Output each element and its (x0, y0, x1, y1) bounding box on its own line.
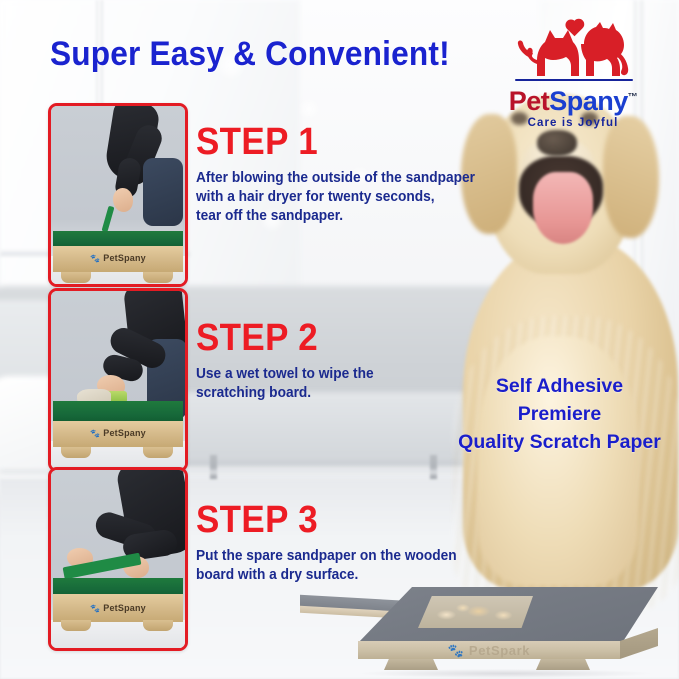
product-tagline: Self Adhesive Premiere Quality Scratch P… (452, 372, 667, 456)
board-brand-text: PetSpany (103, 253, 146, 263)
step-block-1: STEP 1 After blowing the outside of the … (196, 122, 493, 226)
step-block-2: STEP 2 Use a wet towel to wipe the scrat… (196, 318, 385, 403)
dog-ear-right (603, 116, 659, 238)
paw-icon: 🐾 (90, 254, 100, 263)
product-shadow (360, 669, 650, 678)
board-brand-text: PetSpany (103, 603, 146, 613)
board-brand-label: 🐾PetSpany (51, 428, 185, 438)
step-photo-3: 🐾PetSpany (48, 467, 188, 651)
bokeh-light (300, 100, 318, 118)
trademark-symbol: ™ (628, 92, 638, 103)
step-title-1: STEP 1 (196, 122, 469, 162)
board-foot (143, 447, 173, 458)
step-photo-1: 🐾PetSpany (48, 103, 188, 287)
person-hand (113, 188, 133, 212)
product-brand-text: PetSpark (469, 643, 530, 658)
brand-tagline: Care is Joyful (498, 117, 648, 129)
board-foot (143, 620, 173, 631)
board-foot (61, 620, 91, 631)
paw-icon: 🐾 (448, 643, 465, 658)
logo-divider (515, 79, 633, 81)
step-body-1: After blowing the outside of the sandpap… (196, 169, 475, 226)
paw-icon: 🐾 (90, 429, 100, 438)
brand-name-pet: Pet (509, 86, 550, 116)
person-jeans (143, 158, 183, 226)
dog-tongue (533, 172, 593, 244)
cat-and-dog-heart-logo-icon (498, 22, 648, 84)
brand-name: PetSpany™ (498, 84, 648, 115)
board-foot (61, 272, 91, 283)
step-block-3: STEP 3 Put the spare sandpaper on the wo… (196, 500, 473, 585)
treats (428, 601, 520, 624)
board-brand-label: 🐾PetSpany (51, 603, 185, 613)
step-body-2: Use a wet towel to wipe the scratching b… (196, 365, 374, 403)
green-board-surface (53, 401, 183, 423)
step-title-3: STEP 3 (196, 500, 451, 540)
product-brand-label: 🐾 PetSpark (358, 643, 620, 659)
step-title-2: STEP 2 (196, 318, 370, 358)
board-brand-label: 🐾PetSpany (51, 253, 185, 263)
step-body-3: Put the spare sandpaper on the wooden bo… (196, 547, 457, 585)
product-hero-image: 🐾 PetSpark (300, 585, 679, 679)
infographic-poster: Super Easy & Convenient! PetSpany™ Care … (0, 0, 679, 679)
page-title: Super Easy & Convenient! (50, 35, 450, 74)
board-brand-text: PetSpany (103, 428, 146, 438)
brand-logo: PetSpany™ Care is Joyful (498, 22, 648, 134)
paw-icon: 🐾 (90, 604, 100, 613)
brand-name-spany: Spany (549, 86, 628, 116)
step-photo-2: 🐾PetSpany (48, 288, 188, 472)
board-foot (143, 272, 173, 283)
board-foot (61, 447, 91, 458)
